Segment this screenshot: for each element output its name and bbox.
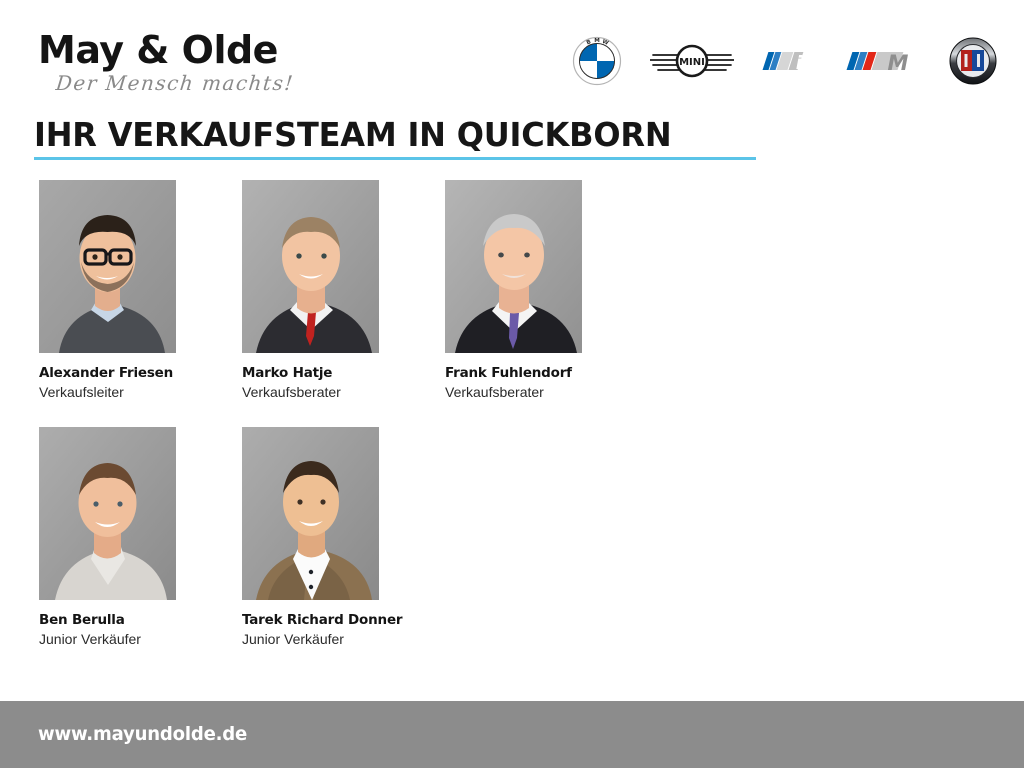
team-member-card: Frank Fuhlendorf Verkaufsberater xyxy=(445,180,582,400)
team-member-name: Frank Fuhlendorf xyxy=(445,366,582,382)
team-member-name: Alexander Friesen xyxy=(39,366,176,382)
website-url[interactable]: www.mayundolde.de xyxy=(38,723,247,745)
mini-wordmark: MINI xyxy=(679,57,705,68)
team-grid: Alexander Friesen Verkaufsleiter xyxy=(39,180,799,648)
team-member-card: Marko Hatje Verkaufsberater xyxy=(242,180,379,400)
company-logo: May & Olde Der Mensch machts! xyxy=(38,31,298,95)
team-row: Ben Berulla Junior Verkäufer xyxy=(39,427,799,647)
team-member-role: Junior Verkäufer xyxy=(39,631,176,648)
mini-wings-icon: MINI xyxy=(650,41,734,86)
team-member-name: Marko Hatje xyxy=(242,366,379,382)
bmw-i-wordmark: i xyxy=(796,52,803,74)
bmw-roundel-icon: B M W xyxy=(572,36,622,91)
team-member-role: Junior Verkäufer xyxy=(242,631,379,648)
portrait-frank-fuhlendorf xyxy=(445,180,582,353)
alpina-crest-icon xyxy=(948,36,998,91)
page-footer: www.mayundolde.de xyxy=(0,701,1024,768)
page-title: IHR VERKAUFSTEAM IN QUICKBORN xyxy=(34,118,742,153)
svg-text:M: M xyxy=(594,38,600,44)
team-member-role: Verkaufsberater xyxy=(445,384,582,401)
bmw-i-icon: i xyxy=(762,47,818,80)
portrait-alexander-friesen xyxy=(39,180,176,353)
team-member-role: Verkaufsberater xyxy=(242,384,379,401)
portrait-marko-hatje xyxy=(242,180,379,353)
title-underline-rule xyxy=(34,157,756,160)
page-title-block: IHR VERKAUFSTEAM IN QUICKBORN xyxy=(34,118,764,160)
company-logo-wordmark: May & Olde xyxy=(38,31,298,69)
team-row: Alexander Friesen Verkaufsleiter xyxy=(39,180,799,400)
team-member-role: Verkaufsleiter xyxy=(39,384,176,401)
page-header: May & Olde Der Mensch machts! B M W xyxy=(0,0,1024,110)
team-member-card: Tarek Richard Donner Junior Verkäufer xyxy=(242,427,379,647)
bmw-m-icon: M xyxy=(846,47,920,80)
team-member-name: Ben Berulla xyxy=(39,613,176,629)
portrait-ben-berulla xyxy=(39,427,176,600)
company-logo-tagline: Der Mensch machts! xyxy=(55,71,300,95)
team-member-card: Alexander Friesen Verkaufsleiter xyxy=(39,180,176,400)
bmw-m-wordmark: M xyxy=(888,51,909,75)
team-member-name: Tarek Richard Donner xyxy=(242,613,379,629)
portrait-tarek-richard-donner xyxy=(242,427,379,600)
brand-logo-bar: B M W MINI xyxy=(572,34,998,92)
team-member-card: Ben Berulla Junior Verkäufer xyxy=(39,427,176,647)
